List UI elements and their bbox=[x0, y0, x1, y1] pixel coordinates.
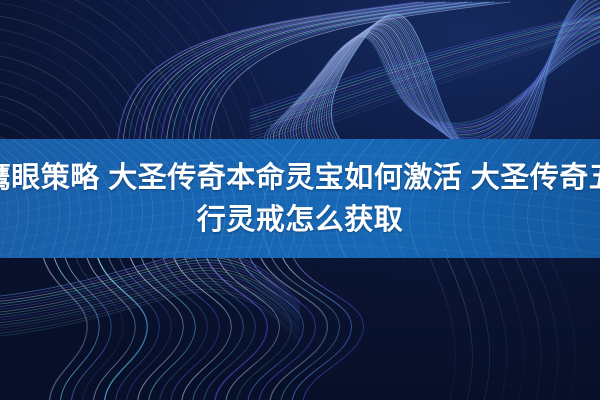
headline-block: 鹰眼策略 大圣传奇本命灵宝如何激活 大圣传奇五 行灵戒怎么获取 bbox=[0, 139, 600, 258]
promo-banner: 鹰眼策略 大圣传奇本命灵宝如何激活 大圣传奇五 行灵戒怎么获取 bbox=[0, 0, 600, 400]
headline-line-1: 鹰眼策略 大圣传奇本命灵宝如何激活 大圣传奇五 bbox=[0, 158, 600, 198]
headline-line-2: 行灵戒怎么获取 bbox=[197, 200, 404, 240]
bottom-wave-group bbox=[0, 252, 575, 400]
